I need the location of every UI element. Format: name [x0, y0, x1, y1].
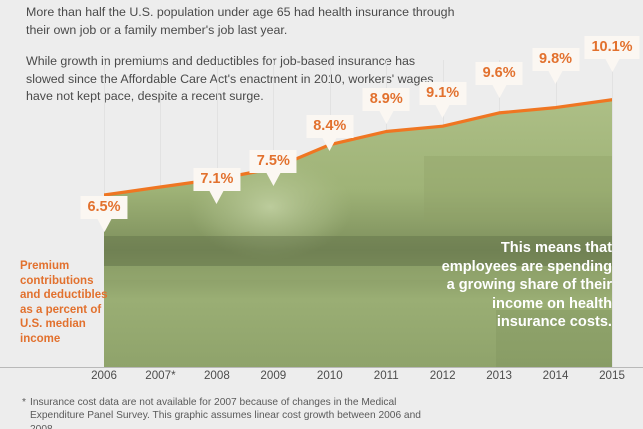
x-axis-label-2012: 2012 [430, 369, 456, 382]
data-label-2006: 6.5% [80, 196, 127, 232]
axis-baseline [0, 367, 643, 368]
footnote-marker: * [22, 396, 26, 409]
data-label-value: 10.1% [584, 36, 639, 59]
data-label-value: 9.1% [419, 82, 466, 105]
data-label-value: 7.5% [250, 150, 297, 173]
callout-tail [436, 105, 450, 118]
callout-tail [379, 111, 393, 124]
data-label-2012: 9.1% [419, 82, 466, 118]
x-axis-label-2008: 2008 [204, 369, 230, 382]
data-label-value: 8.9% [363, 88, 410, 111]
callout-tail [323, 138, 337, 151]
x-axis-label-2009: 2009 [260, 369, 286, 382]
x-axis-label-2015: 2015 [599, 369, 625, 382]
callout-tail [492, 85, 506, 98]
data-label-2010: 8.4% [306, 115, 353, 151]
statement-callout: This means that employees are spending a… [432, 239, 612, 332]
data-label-2008: 7.1% [193, 168, 240, 204]
data-label-2014: 9.8% [532, 48, 579, 84]
data-label-value: 8.4% [306, 115, 353, 138]
x-axis-label-2010: 2010 [317, 369, 343, 382]
y-axis-title: Premium contributions and deductibles as… [20, 259, 108, 347]
infographic-root: More than half the U.S. population under… [0, 0, 643, 429]
x-axis-label-2011: 2011 [374, 369, 399, 382]
data-label-2009: 7.5% [250, 150, 297, 186]
x-axis-label-2007: 2007* [145, 369, 175, 382]
data-label-value: 9.6% [476, 62, 523, 85]
callout-tail [266, 173, 280, 186]
x-axis-label-2006: 2006 [91, 369, 117, 382]
callout-tail [210, 191, 224, 204]
x-axis-label-2013: 2013 [486, 369, 512, 382]
data-label-value: 7.1% [193, 168, 240, 191]
footnote: * Insurance cost data are not available … [22, 396, 422, 429]
data-label-2011: 8.9% [363, 88, 410, 124]
callout-tail [97, 219, 111, 232]
area-chart: 20062007*2008200920102011201220132014201… [0, 0, 643, 429]
footnote-text: Insurance cost data are not available fo… [22, 396, 422, 429]
x-axis-label-2014: 2014 [543, 369, 569, 382]
gridline [612, 60, 613, 367]
callout-tail [605, 59, 619, 72]
data-label-2013: 9.6% [476, 62, 523, 98]
x-axis-labels: 20062007*2008200920102011201220132014201… [0, 369, 643, 389]
data-label-2015: 10.1% [584, 36, 639, 72]
callout-tail [549, 71, 563, 84]
data-label-value: 6.5% [80, 196, 127, 219]
data-label-value: 9.8% [532, 48, 579, 71]
